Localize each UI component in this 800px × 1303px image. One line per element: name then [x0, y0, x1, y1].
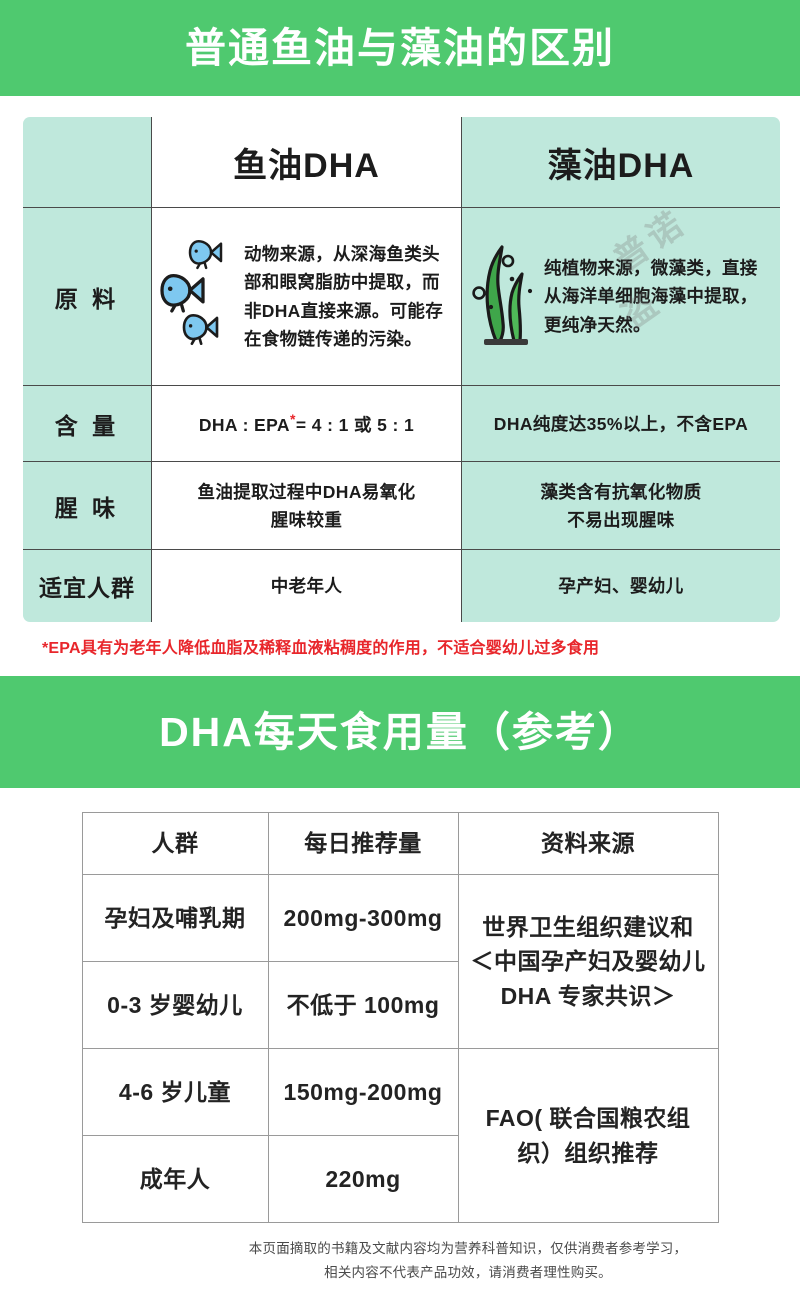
page-root: 普通鱼油与藻油的区别 普诺 盗 鱼油DHA 藻油DHA 原 料 [0, 0, 800, 1303]
dosage-group-infant: 0-3 岁婴幼儿 [82, 962, 268, 1049]
dosage-source-fao: FAO( 联合国粮农组 织）组织推荐 [458, 1049, 718, 1223]
row-label-target-group: 适宜人群 [22, 550, 152, 624]
cell-content-fish-text: DHA : EPA [199, 415, 290, 435]
cell-content-fish: DHA : EPA*= 4 : 1 或 5 : 1 [152, 386, 462, 462]
table-row-target-group: 适宜人群 中老年人 孕产妇、婴幼儿 [22, 550, 782, 624]
row-label-material: 原 料 [22, 208, 152, 386]
dosage-header-row: 人群 每日推荐量 资料来源 [82, 813, 718, 875]
cell-material-fish-text: 动物来源，从深海鱼类头部和眼窝脂肪中提取，而非DHA直接来源。可能存在食物链传递… [244, 240, 453, 353]
dosage-amount-pregnant: 200mg-300mg [268, 875, 458, 962]
dosage-group-child: 4-6 岁儿童 [82, 1049, 268, 1136]
epa-footnote: *EPA具有为老年人降低血脂及稀释血液粘稠度的作用，不适合婴幼儿过多食用 [42, 634, 780, 658]
comparison-table: 鱼油DHA 藻油DHA 原 料 [20, 114, 783, 625]
cell-smell-algae: 藻类含有抗氧化物质 不易出现腥味 [462, 462, 782, 550]
cell-smell-fish: 鱼油提取过程中DHA易氧化 腥味较重 [152, 462, 462, 550]
header-cell-fish-oil: 鱼油DHA [152, 116, 462, 208]
section-header-comparison: 普通鱼油与藻油的区别 [0, 0, 800, 96]
table-row-material: 原 料 [22, 208, 782, 386]
cell-content-algae: DHA纯度达35%以上，不含EPA [462, 386, 782, 462]
page-disclaimer: 本页面摘取的书籍及文献内容均为营养科普知识，仅供消费者参考学习， 相关内容不代表… [0, 1237, 776, 1284]
table-header-row: 鱼油DHA 藻油DHA [22, 116, 782, 208]
dosage-header-amount: 每日推荐量 [268, 813, 458, 875]
comparison-table-container: 普诺 盗 鱼油DHA 藻油DHA 原 料 [0, 96, 800, 658]
dosage-group-pregnant: 孕妇及哺乳期 [82, 875, 268, 962]
dosage-table: 人群 每日推荐量 资料来源 孕妇及哺乳期 200mg-300mg 世界卫生组织建… [82, 812, 719, 1223]
cell-content-fish-tail: = 4 : 1 或 5 : 1 [296, 415, 414, 435]
dosage-table-container: 人群 每日推荐量 资料来源 孕妇及哺乳期 200mg-300mg 世界卫生组织建… [0, 788, 800, 1223]
dosage-source-who: 世界卫生组织建议和 ＜中国孕产妇及婴幼儿 DHA 专家共识＞ [458, 875, 718, 1049]
dosage-amount-infant: 不低于 100mg [268, 962, 458, 1049]
header-cell-algae-oil: 藻油DHA [462, 116, 782, 208]
dosage-header-source: 资料来源 [458, 813, 718, 875]
dosage-group-adult: 成年人 [82, 1136, 268, 1223]
banner-title-dosage: DHA每天食用量（参考） [159, 712, 641, 753]
dosage-amount-child: 150mg-200mg [268, 1049, 458, 1136]
dosage-row-child: 4-6 岁儿童 150mg-200mg FAO( 联合国粮农组 织）组织推荐 [82, 1049, 718, 1136]
fish-icon [160, 234, 238, 359]
row-label-content: 含 量 [22, 386, 152, 462]
row-label-smell: 腥 味 [22, 462, 152, 550]
cell-target-algae: 孕产妇、婴幼儿 [462, 550, 782, 624]
table-row-content: 含 量 DHA : EPA*= 4 : 1 或 5 : 1 DHA纯度达35%以… [22, 386, 782, 462]
dosage-amount-adult: 220mg [268, 1136, 458, 1223]
dosage-header-group: 人群 [82, 813, 268, 875]
cell-material-fish: 动物来源，从深海鱼类头部和眼窝脂肪中提取，而非DHA直接来源。可能存在食物链传递… [152, 208, 462, 386]
banner-title-comparison: 普通鱼油与藻油的区别 [185, 28, 615, 69]
cell-material-algae: 纯植物来源，微藻类，直接从海洋单细胞海藻中提取，更纯净天然。 [462, 208, 782, 386]
cell-material-algae-text: 纯植物来源，微藻类，直接从海洋单细胞海藻中提取，更纯净天然。 [544, 254, 772, 339]
table-row-smell: 腥 味 鱼油提取过程中DHA易氧化 腥味较重 藻类含有抗氧化物质 不易出现腥味 [22, 462, 782, 550]
dosage-row-pregnant: 孕妇及哺乳期 200mg-300mg 世界卫生组织建议和 ＜中国孕产妇及婴幼儿 … [82, 875, 718, 962]
cell-target-fish: 中老年人 [152, 550, 462, 624]
seaweed-icon [470, 235, 538, 358]
header-cell-empty [22, 116, 152, 208]
section-header-dosage: DHA每天食用量（参考） [0, 676, 800, 788]
